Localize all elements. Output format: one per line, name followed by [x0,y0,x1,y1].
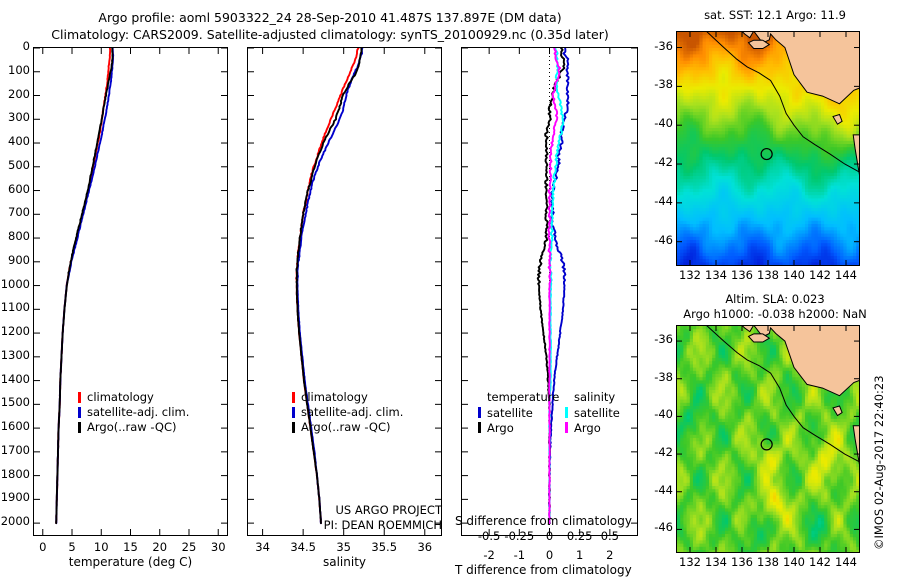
legend-swatch-argo [78,422,81,433]
sst-lat-tick-36: -36 [641,39,673,53]
project-note-line2: PI: DEAN ROEMMICH [242,518,442,532]
sla-map-image [677,326,859,552]
sst-lon-tick-144: 144 [830,268,862,282]
sst-map-image [677,32,859,265]
project-note-line1: US ARGO PROJECT [242,503,442,517]
legend-swatch-climatology-sal [292,392,295,403]
sla-lat-tick-38: -38 [641,370,673,384]
salinity-profile-plot [248,48,441,535]
temperature-tick-20: 20 [144,540,176,554]
depth-tick-0: 0 [0,39,30,53]
depth-tick-600: 600 [0,182,30,196]
sst-map-panel [676,31,860,266]
legend-label-sal-argo: Argo [574,421,601,435]
sst-lat-tick-38: -38 [641,77,673,91]
legend-label-argo-sal: Argo(..raw -QC) [301,420,391,435]
legend-item-argo-sal: Argo(..raw -QC) [292,420,403,435]
depth-tick-1800: 1800 [0,467,30,481]
temperature-axis-label: temperature (deg C) [33,555,228,569]
depth-tick-1200: 1200 [0,324,30,338]
legend-swatch-climatology [78,392,81,403]
sst-lat-tick-40: -40 [641,116,673,130]
temperature-tick-5: 5 [56,540,88,554]
sla-lat-tick-42: -42 [641,445,673,459]
s-difference-tick-0.5: 0.5 [587,529,633,543]
legend-item-temp-argo: Argo [478,420,559,435]
legend-label-climatology: climatology [87,390,154,405]
figure-title-line1: Argo profile: aoml 5903322_24 28-Sep-201… [0,10,660,25]
depth-tick-300: 300 [0,110,30,124]
salinity-axis-label: salinity [247,555,442,569]
temperature-tick-25: 25 [173,540,205,554]
t-difference-tick--2: -2 [473,548,505,562]
temperature-tick-30: 30 [202,540,234,554]
depth-tick-500: 500 [0,158,30,172]
figure-root: Argo profile: aoml 5903322_24 28-Sep-201… [0,0,900,580]
salinity-tick-35.5: 35.5 [362,540,406,554]
legend-label-temp-satellite: satellite [487,406,533,420]
salinity-tick-36: 36 [403,540,447,554]
sla-map-panel [676,325,860,553]
sla-lon-tick-144: 144 [830,555,862,569]
depth-tick-900: 900 [0,253,30,267]
legend-item-temp-satellite: satellite [478,405,559,420]
t-difference-tick--1: -1 [503,548,535,562]
salinity-tick-35: 35 [322,540,366,554]
depth-tick-1100: 1100 [0,300,30,314]
sla-map-title-line2: Argo h1000: -0.038 h2000: NaN [655,307,895,321]
temperature-profile-panel [33,47,228,536]
temperature-tick-15: 15 [115,540,147,554]
sst-lat-tick-42: -42 [641,155,673,169]
sla-lat-tick-44: -44 [641,483,673,497]
legend-label-temp-argo: Argo [487,421,514,435]
salinity-difference-axis-label: S difference from climatology [455,514,645,528]
legend-label-satellite-adj: satellite-adj. clim. [87,405,189,420]
difference-legend-salinity-header: salinity [574,390,620,405]
legend-item-argo: Argo(..raw -QC) [78,420,189,435]
sla-lat-tick-40: -40 [641,407,673,421]
sst-map-title: sat. SST: 12.1 Argo: 11.9 [660,8,890,22]
depth-tick-1600: 1600 [0,419,30,433]
legend-item-satellite-adj: satellite-adj. clim. [78,405,189,420]
legend-label-argo: Argo(..raw -QC) [87,420,177,435]
depth-tick-1300: 1300 [0,348,30,362]
depth-tick-100: 100 [0,63,30,77]
salinity-legend: climatology satellite-adj. clim. Argo(..… [292,390,403,435]
legend-item-climatology: climatology [78,390,189,405]
depth-tick-800: 800 [0,229,30,243]
depth-tick-1000: 1000 [0,277,30,291]
legend-item-sal-satellite: satellite [565,405,620,420]
sla-lat-tick-46: -46 [641,520,673,534]
sla-map-title-line1: Altim. SLA: 0.023 [660,292,890,306]
legend-swatch-temp-satellite [478,407,481,418]
imos-credit: ©IMOS 02-Aug-2017 22:40:23 [872,375,886,550]
temperature-difference-axis-label: T difference from climatology [455,563,645,577]
difference-profile-panel [461,47,638,536]
legend-item-satellite-adj-sal: satellite-adj. clim. [292,405,403,420]
legend-item-climatology-sal: climatology [292,390,403,405]
temperature-tick-0: 0 [27,540,59,554]
temperature-legend: climatology satellite-adj. clim. Argo(..… [78,390,189,435]
sst-lat-tick-46: -46 [641,233,673,247]
difference-legend-temperature-header: temperature [487,390,559,405]
depth-tick-1400: 1400 [0,372,30,386]
t-difference-tick-0: 0 [534,548,566,562]
depth-tick-1900: 1900 [0,490,30,504]
legend-swatch-satellite-adj-sal [292,407,295,418]
legend-swatch-sal-satellite [565,407,568,418]
temperature-tick-10: 10 [85,540,117,554]
depth-tick-400: 400 [0,134,30,148]
legend-label-satellite-adj-sal: satellite-adj. clim. [301,405,403,420]
difference-legend-temperature-column: temperature satellite Argo [478,390,559,435]
sla-lat-tick-36: -36 [641,332,673,346]
depth-tick-700: 700 [0,205,30,219]
salinity-tick-34: 34 [241,540,285,554]
t-difference-tick-1: 1 [564,548,596,562]
depth-tick-200: 200 [0,87,30,101]
temperature-profile-plot [34,48,227,535]
figure-title-line2: Climatology: CARS2009. Satellite-adjuste… [0,27,660,42]
legend-label-sal-satellite: satellite [574,406,620,420]
difference-legend-salinity-column: salinity satellite Argo [565,390,620,435]
salinity-tick-34.5: 34.5 [281,540,325,554]
t-difference-tick-2: 2 [594,548,626,562]
sst-lat-tick-44: -44 [641,194,673,208]
legend-swatch-satellite-adj [78,407,81,418]
legend-label-climatology-sal: climatology [301,390,368,405]
depth-tick-1700: 1700 [0,443,30,457]
depth-tick-1500: 1500 [0,395,30,409]
legend-swatch-temp-argo [478,422,481,433]
legend-swatch-argo-sal [292,422,295,433]
difference-profile-plot [462,48,637,535]
legend-item-sal-argo: Argo [565,420,620,435]
legend-swatch-sal-argo [565,422,568,433]
depth-tick-2000: 2000 [0,514,30,528]
salinity-profile-panel [247,47,442,536]
